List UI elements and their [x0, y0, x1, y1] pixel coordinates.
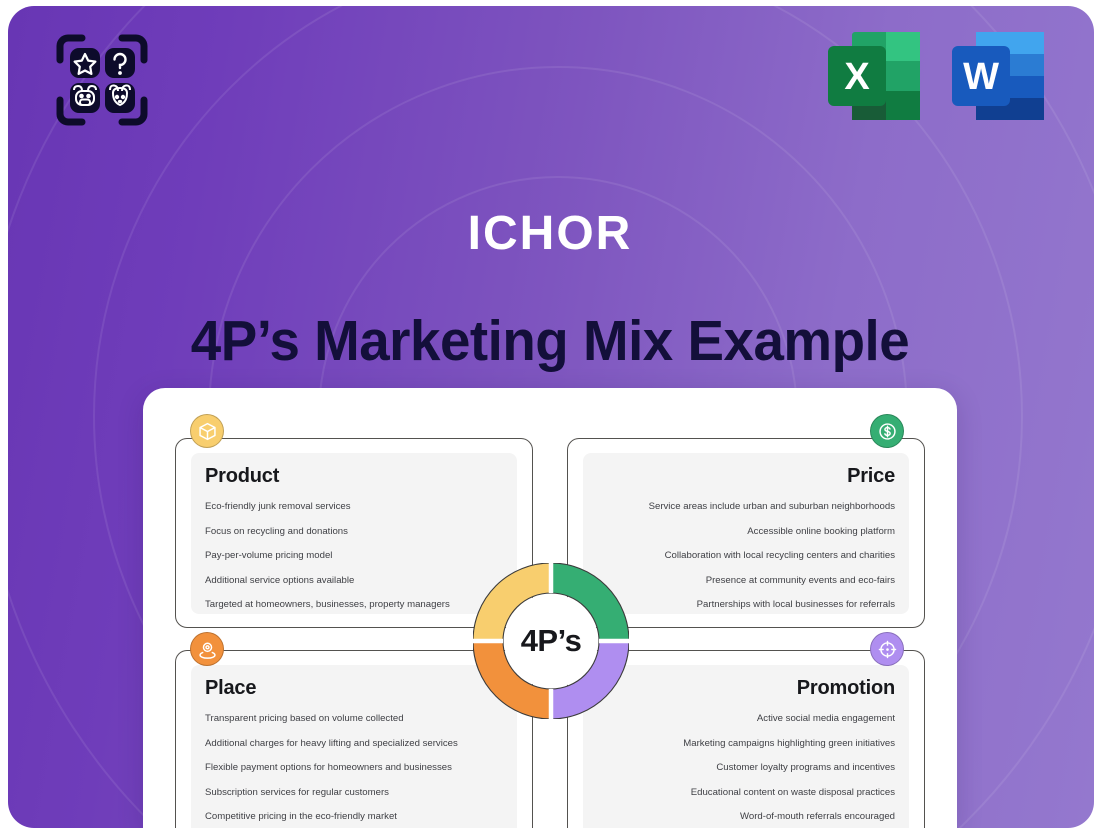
quadrant-list: Eco-friendly junk removal services Focus…	[205, 501, 503, 611]
page-title: 4P’s Marketing Mix Example	[22, 308, 1078, 374]
brand-title: ICHOR	[0, 206, 1100, 261]
list-item: Educational content on waste disposal pr…	[597, 787, 895, 799]
list-item: Service areas include urban and suburban…	[597, 501, 895, 513]
svg-text:W: W	[963, 56, 999, 98]
slide-canvas: X W ICHOR 4P’s Marketing Mix Example Pro…	[0, 0, 1100, 828]
list-item: Active social media engagement	[597, 713, 895, 725]
list-item: Accessible online booking platform	[597, 526, 895, 538]
target-crosshair-icon	[870, 632, 904, 666]
list-item: Focus on recycling and donations	[205, 526, 503, 538]
scan-pets-logo-icon	[52, 30, 152, 130]
package-box-icon	[190, 414, 224, 448]
office-icons-group: X W	[824, 28, 1048, 124]
list-item: Partnerships with local businesses for r…	[597, 599, 895, 611]
list-item: Pay-per-volume pricing model	[205, 550, 503, 562]
list-item: Targeted at homeowners, businesses, prop…	[205, 599, 503, 611]
list-item: Presence at community events and eco-fai…	[597, 575, 895, 587]
quadrant-title: Place	[205, 677, 503, 700]
quadrant-list: Service areas include urban and suburban…	[597, 501, 895, 611]
word-icon[interactable]: W	[948, 28, 1048, 124]
donut-chart: 4P’s	[473, 563, 629, 719]
list-item: Competitive pricing in the eco-friendly …	[205, 811, 503, 823]
list-item: Customer loyalty programs and incentives	[597, 762, 895, 774]
list-item: Collaboration with local recycling cente…	[597, 550, 895, 562]
list-item: Eco-friendly junk removal services	[205, 501, 503, 513]
quadrant-title: Product	[205, 465, 503, 488]
list-item: Additional charges for heavy lifting and…	[205, 738, 503, 750]
quadrant-panel: Promotion Active social media engagement…	[583, 665, 909, 828]
quadrant-title: Promotion	[597, 677, 895, 700]
list-item: Subscription services for regular custom…	[205, 787, 503, 799]
list-item: Marketing campaigns highlighting green i…	[597, 738, 895, 750]
list-item: Word-of-mouth referrals encouraged	[597, 811, 895, 823]
dollar-coin-icon	[870, 414, 904, 448]
quadrant-list: Transparent pricing based on volume coll…	[205, 713, 503, 823]
quadrant-panel: Place Transparent pricing based on volum…	[191, 665, 517, 828]
list-item: Additional service options available	[205, 575, 503, 587]
quadrant-panel: Price Service areas include urban and su…	[583, 453, 909, 614]
location-pin-icon	[190, 632, 224, 666]
quadrant-panel: Product Eco-friendly junk removal servic…	[191, 453, 517, 614]
excel-icon[interactable]: X	[824, 28, 924, 124]
quadrant-list: Active social media engagement Marketing…	[597, 713, 895, 823]
quadrant-title: Price	[597, 465, 895, 488]
list-item: Flexible payment options for homeowners …	[205, 762, 503, 774]
svg-text:X: X	[844, 56, 870, 98]
list-item: Transparent pricing based on volume coll…	[205, 713, 503, 725]
